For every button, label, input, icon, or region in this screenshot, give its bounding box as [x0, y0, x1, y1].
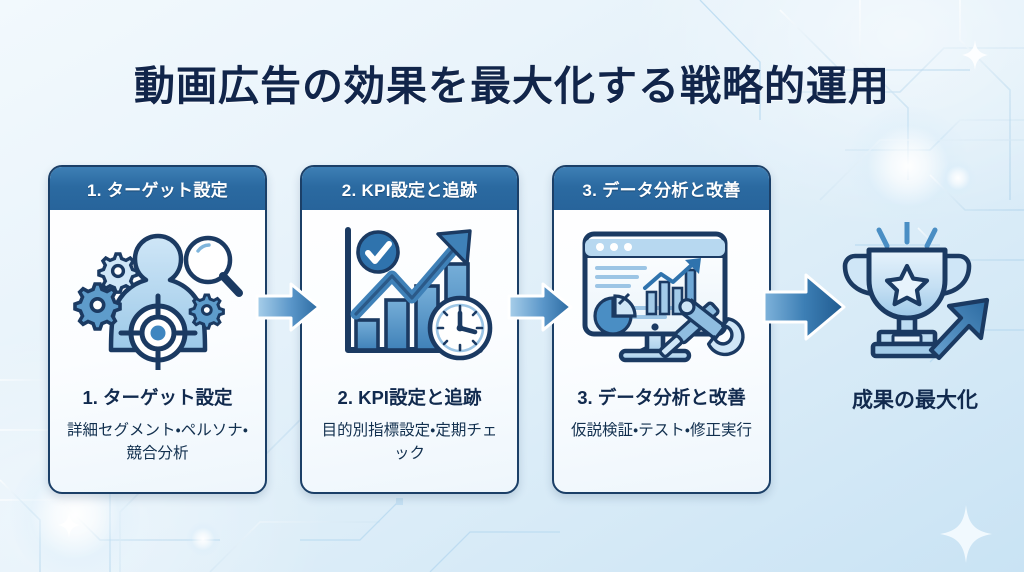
outcome-label: 成果の最大化	[852, 384, 978, 414]
sparkle-star-bottom-right	[940, 505, 992, 563]
step-card-1-description: 詳細セグメント・ペルソナ・競合分析	[63, 419, 253, 466]
step-card-2-description: 目的別指標設定・定期チェック	[315, 419, 505, 466]
growth-chart-clock-icon	[320, 220, 500, 370]
step-card-3-description: 仮説検証・テスト・修正実行	[571, 419, 752, 442]
glow-node-small-right	[940, 160, 976, 196]
glow-node-top-right	[848, 106, 968, 226]
step-card-2-body: 2. KPI設定と追跡 目的別指標設定・定期チェック	[302, 210, 517, 492]
step-card-3-title: 3. データ分析と改善	[577, 384, 746, 410]
trophy-growth-icon	[835, 222, 995, 362]
step-card-3-header: 3. データ分析と改善	[554, 167, 769, 210]
step-card-2-title: 2. KPI設定と追跡	[338, 384, 482, 410]
step-card-2-header: 2. KPI設定と追跡	[302, 167, 517, 210]
audience-target-icon	[65, 220, 251, 370]
step-card-2[interactable]: 2. KPI設定と追跡	[300, 165, 519, 494]
step-card-1[interactable]: 1. ターゲット設定	[48, 165, 267, 494]
dashboard-tools-icon	[569, 220, 755, 370]
infographic-canvas: 動画広告の効果を最大化する戦略的運用 1. ターゲット設定	[0, 0, 1024, 572]
step-card-3-body: 3. データ分析と改善 仮説検証・テスト・修正実行	[554, 210, 769, 492]
step-card-3[interactable]: 3. データ分析と改善	[552, 165, 771, 494]
step-card-1-title: 1. ターゲット設定	[82, 384, 232, 410]
glow-node-small-mid	[186, 522, 220, 556]
sparkle-star-bottom-left	[58, 512, 80, 538]
step-card-1-header: 1. ターゲット設定	[50, 167, 265, 210]
step-card-1-body: 1. ターゲット設定 詳細セグメント・ペルソナ・競合分析	[50, 210, 265, 492]
outcome-block: 成果の最大化	[826, 222, 1004, 414]
page-title: 動画広告の効果を最大化する戦略的運用	[0, 52, 1024, 112]
